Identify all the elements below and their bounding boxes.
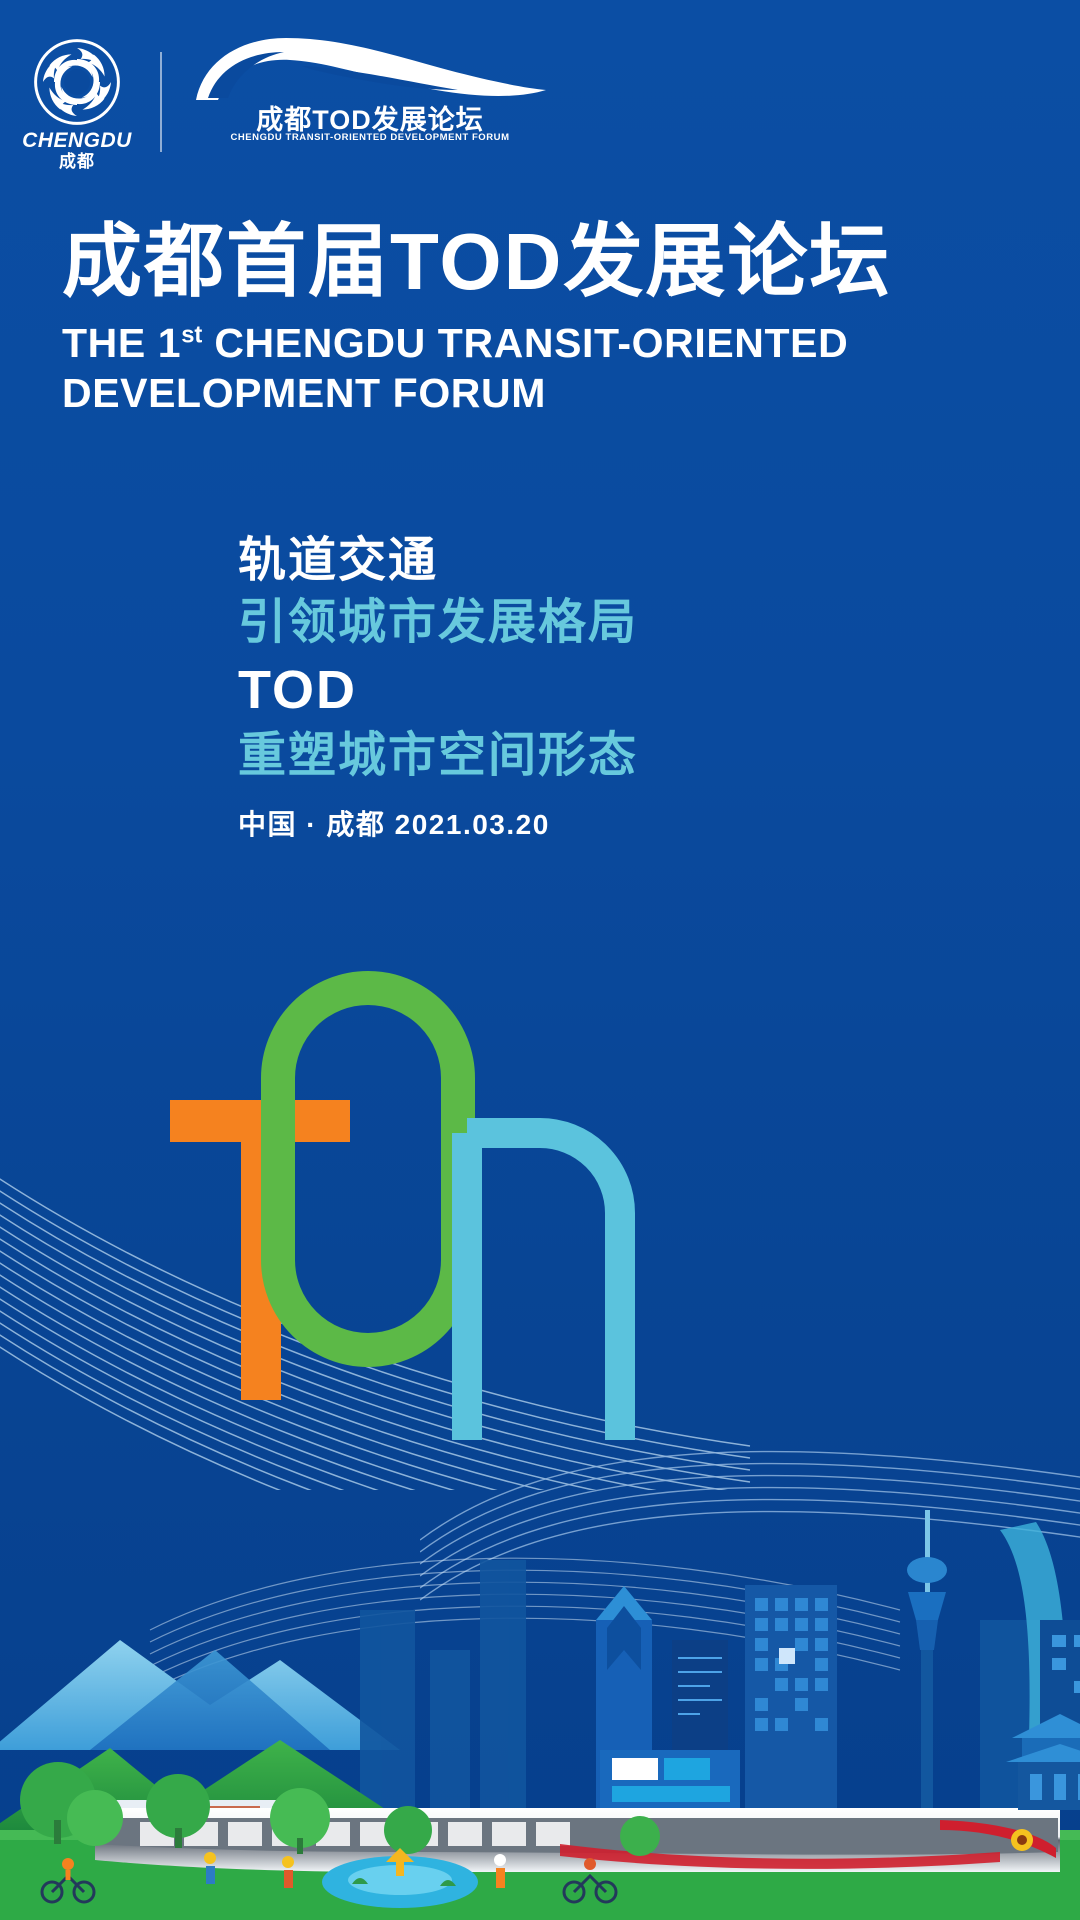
tv-tower — [907, 1510, 947, 1810]
forum-logo-name-en: CHENGDU TRANSIT-ORIENTED DEVELOPMENT FOR… — [190, 132, 550, 143]
slogan-line-3: TOD — [238, 655, 998, 725]
main-title-en: THE 1st CHENGDU TRANSIT-ORIENTED DEVELOP… — [62, 318, 962, 418]
title-en-ordinal: st — [181, 321, 202, 348]
lowrise-block — [600, 1750, 740, 1810]
city-illustration — [0, 1500, 1080, 1920]
title-en-prefix: THE 1 — [62, 320, 181, 366]
chengdu-sunbird-icon — [31, 36, 123, 128]
main-title-cn: 成都首届TOD发展论坛 — [62, 222, 962, 302]
forum-logo: 成都TOD发展论坛 CHENGDU TRANSIT-ORIENTED DEVEL… — [190, 36, 550, 161]
tod-letter-o — [278, 988, 458, 1350]
main-title-en-line1: THE 1st CHENGDU TRANSIT-ORIENTED — [62, 318, 962, 368]
slogan-line-4: 重塑城市空间形态 — [238, 725, 998, 787]
logo-divider — [160, 52, 162, 152]
title-en-rest: CHENGDU TRANSIT-ORIENTED — [202, 320, 848, 366]
slogan-block: 轨道交通 引领城市发展格局 TOD 重塑城市空间形态 中国 · 成都 2021.… — [238, 530, 998, 843]
slogan-line-1: 轨道交通 — [238, 530, 998, 592]
tod-swoosh-icon — [190, 36, 550, 102]
main-title-block: 成都首届TOD发展论坛 THE 1st CHENGDU TRANSIT-ORIE… — [62, 222, 962, 418]
metro-train — [95, 1808, 1060, 1872]
slogan-line-2: 引领城市发展格局 — [238, 592, 998, 654]
header-logos: CHENGDU 成都 成都TOD发展论坛 CHENGDU TRANSIT-ORI… — [0, 30, 1080, 160]
main-title-en-line2: DEVELOPMENT FORUM — [62, 368, 962, 418]
chengdu-city-logo: CHENGDU 成都 — [22, 36, 132, 161]
poster-root: CHENGDU 成都 成都TOD发展论坛 CHENGDU TRANSIT-ORI… — [0, 0, 1080, 1920]
chengdu-logo-name-en: CHENGDU — [22, 130, 132, 151]
chengdu-logo-name-cn: 成都 — [22, 152, 132, 172]
event-date-location: 中国 · 成都 2021.03.20 — [238, 803, 998, 843]
windowed-tower — [745, 1585, 837, 1810]
